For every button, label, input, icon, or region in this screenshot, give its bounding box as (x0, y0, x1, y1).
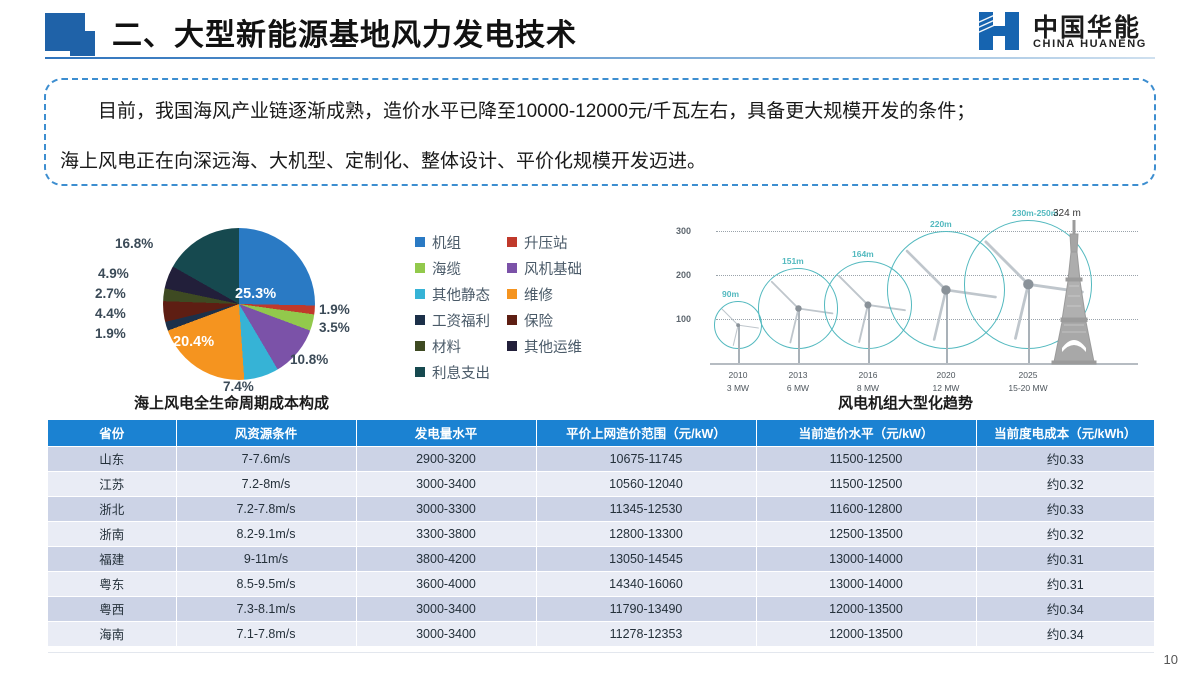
legend-label: 工资福利 (432, 310, 490, 331)
table-cell: 约0.32 (976, 471, 1154, 496)
legend-swatch-icon (507, 237, 517, 247)
table-row: 浙南8.2-9.1m/s3300-380012800-1330012500-13… (48, 521, 1154, 546)
pie-label-4-4: 4.4% (95, 306, 126, 321)
table-cell: 海南 (48, 621, 176, 646)
pie-chart-caption: 海上风电全生命周期成本构成 (134, 392, 329, 413)
pie-label-16-8: 16.8% (115, 236, 153, 251)
turbine-axis-label: 202515-20 MW (994, 370, 1062, 393)
pie-label-3-5: 3.5% (319, 320, 350, 335)
legend-swatch-icon (415, 341, 425, 351)
callout-line-1: 目前，我国海风产业链逐渐成熟，造价水平已降至10000-12000元/千瓦左右，… (46, 80, 1154, 130)
table-column-header: 平价上网造价范围（元/kW） (536, 420, 756, 446)
table-cell: 3000-3400 (356, 471, 536, 496)
trend-y-tick-label: 300 (676, 226, 691, 236)
summary-callout-box: 目前，我国海风产业链逐渐成熟，造价水平已降至10000-12000元/千瓦左右，… (44, 78, 1156, 186)
logo-text-en: CHINA HUANENG (1033, 38, 1147, 50)
legend-item: 海缆 (415, 255, 490, 281)
table-cell: 11790-13490 (536, 596, 756, 621)
table-cell: 约0.31 (976, 571, 1154, 596)
legend-label: 保险 (524, 310, 553, 331)
callout-line-2: 海上风电正在向深远海、大机型、定制化、整体设计、平价化规模开发迈进。 (46, 130, 1154, 180)
legend-item: 维修 (507, 281, 582, 307)
table-cell: 11600-12800 (756, 496, 976, 521)
legend-item: 机组 (415, 229, 490, 255)
legend-swatch-icon (415, 289, 425, 299)
table-cell: 12000-13500 (756, 596, 976, 621)
table-cell: 12800-13300 (536, 521, 756, 546)
turbine-year-label: 2010 (704, 370, 772, 380)
table-cell: 约0.33 (976, 446, 1154, 471)
table-cell: 3600-4000 (356, 571, 536, 596)
table-cell: 约0.33 (976, 496, 1154, 521)
legend-column-left: 机组海缆其他静态工资福利材料利息支出 (415, 229, 490, 385)
header-divider (45, 57, 1155, 59)
pie-label-25-3: 25.3% (235, 286, 276, 302)
table-cell: 约0.31 (976, 546, 1154, 571)
table-cell: 11500-12500 (756, 446, 976, 471)
turbine-height-label: 164m (852, 249, 874, 259)
table-cell: 3300-3800 (356, 521, 536, 546)
pie-label-2-7: 2.7% (95, 286, 126, 301)
table-row: 江苏7.2-8m/s3000-340010560-1204011500-1250… (48, 471, 1154, 496)
legend-label: 其他运维 (524, 336, 582, 357)
table-cell: 11278-12353 (536, 621, 756, 646)
table-cell: 3800-4200 (356, 546, 536, 571)
pie-label-1-9-b: 1.9% (95, 326, 126, 341)
table-cell: 浙南 (48, 521, 176, 546)
table-cell: 7.1-7.8m/s (176, 621, 356, 646)
table-column-header: 当前度电成本（元/kWh） (976, 420, 1154, 446)
table-cell: 7-7.6m/s (176, 446, 356, 471)
table-column-header: 省份 (48, 420, 176, 446)
page-number: 10 (1164, 652, 1178, 667)
trend-chart-caption: 风电机组大型化趋势 (838, 392, 973, 413)
table-cell: 13000-14000 (756, 571, 976, 596)
turbine-power-label: 15-20 MW (994, 383, 1062, 393)
table-cell: 9-11m/s (176, 546, 356, 571)
table-cell: 12500-13500 (756, 521, 976, 546)
legend-label: 利息支出 (432, 362, 490, 383)
table-cell: 7.2-8m/s (176, 471, 356, 496)
table-cell: 14340-16060 (536, 571, 756, 596)
legend-item: 其他运维 (507, 333, 582, 359)
table-cell: 11345-12530 (536, 496, 756, 521)
table-row: 浙北7.2-7.8m/s3000-330011345-1253011600-12… (48, 496, 1154, 521)
table-cell: 12000-13500 (756, 621, 976, 646)
table-cell: 约0.32 (976, 521, 1154, 546)
table-cell: 10560-12040 (536, 471, 756, 496)
turbine-upsizing-trend-chart: 300200100 90m151m164m220m230m-250m 20103… (668, 218, 1138, 390)
legend-label: 其他静态 (432, 284, 490, 305)
legend-label: 海缆 (432, 258, 461, 279)
legend-item: 利息支出 (415, 359, 490, 385)
table-cell: 2900-3200 (356, 446, 536, 471)
province-cost-table: 省份风资源条件发电量水平平价上网造价范围（元/kW）当前造价水平（元/kW）当前… (48, 420, 1154, 647)
legend-swatch-icon (507, 315, 517, 325)
eiffel-tower-height-label: 324 m (1053, 208, 1081, 219)
header-square-small-icon (70, 31, 95, 56)
turbine-height-label: 151m (782, 256, 804, 266)
trend-y-tick-label: 200 (676, 270, 691, 280)
table-cell: 8.5-9.5m/s (176, 571, 356, 596)
table-row: 福建9-11m/s3800-420013050-1454513000-14000… (48, 546, 1154, 571)
legend-swatch-icon (507, 263, 517, 273)
table-cell: 江苏 (48, 471, 176, 496)
legend-swatch-icon (415, 315, 425, 325)
table-cell: 13050-14545 (536, 546, 756, 571)
table-cell: 粤东 (48, 571, 176, 596)
legend-swatch-icon (507, 289, 517, 299)
table-column-header: 发电量水平 (356, 420, 536, 446)
page-title: 二、大型新能源基地风力发电技术 (112, 10, 577, 54)
table-row: 山东7-7.6m/s2900-320010675-1174511500-1250… (48, 446, 1154, 471)
table-header-row: 省份风资源条件发电量水平平价上网造价范围（元/kW）当前造价水平（元/kW）当前… (48, 420, 1154, 446)
table-cell: 约0.34 (976, 621, 1154, 646)
table-cell: 约0.34 (976, 596, 1154, 621)
legend-item: 材料 (415, 333, 490, 359)
trend-y-tick-label: 100 (676, 314, 691, 324)
legend-item: 升压站 (507, 229, 582, 255)
eiffel-tower-icon (1050, 220, 1098, 365)
table-cell: 7.2-7.8m/s (176, 496, 356, 521)
turbine-power-label: 3 MW (704, 383, 772, 393)
legend-item: 工资福利 (415, 307, 490, 333)
table-column-header: 当前造价水平（元/kW） (756, 420, 976, 446)
legend-item: 保险 (507, 307, 582, 333)
legend-column-right: 升压站风机基础维修保险其他运维 (507, 229, 582, 359)
legend-swatch-icon (507, 341, 517, 351)
huaneng-h-mark-icon (975, 10, 1023, 52)
turbine-year-label: 2025 (994, 370, 1062, 380)
turbine-year-label: 2016 (834, 370, 902, 380)
table-body: 山东7-7.6m/s2900-320010675-1174511500-1250… (48, 446, 1154, 646)
pie-label-20-4: 20.4% (173, 334, 214, 350)
table-cell: 10675-11745 (536, 446, 756, 471)
pie-label-1-9-a: 1.9% (319, 302, 350, 317)
turbine-axis-label: 20136 MW (764, 370, 832, 393)
turbine-height-label: 90m (722, 289, 739, 299)
table-cell: 粤西 (48, 596, 176, 621)
pie-label-4-9: 4.9% (98, 266, 129, 281)
turbine-axis-label: 202012 MW (912, 370, 980, 393)
legend-item: 风机基础 (507, 255, 582, 281)
table-cell: 11500-12500 (756, 471, 976, 496)
legend-swatch-icon (415, 237, 425, 247)
table-row: 海南7.1-7.8m/s3000-340011278-1235312000-13… (48, 621, 1154, 646)
turbine-height-label: 220m (930, 219, 952, 229)
table-cell: 浙北 (48, 496, 176, 521)
table-row: 粤东8.5-9.5m/s3600-400014340-1606013000-14… (48, 571, 1154, 596)
turbine-height-label: 230m-250m (1012, 208, 1058, 218)
company-logo: 中国华能 CHINA HUANENG (975, 8, 1170, 54)
turbine-axis-label: 20103 MW (704, 370, 772, 393)
legend-label: 机组 (432, 232, 461, 253)
table-cell: 3000-3300 (356, 496, 536, 521)
slide-root: 二、大型新能源基地风力发电技术 中国华能 CHINA HUANENG 目前，我国… (0, 0, 1200, 675)
table-cell: 8.2-9.1m/s (176, 521, 356, 546)
table-cell: 3000-3400 (356, 596, 536, 621)
turbine-blades-icon (714, 301, 762, 349)
table-row: 粤西7.3-8.1m/s3000-340011790-1349012000-13… (48, 596, 1154, 621)
legend-swatch-icon (415, 263, 425, 273)
cost-composition-pie-chart: 25.3% 1.9% 3.5% 10.8% 7.4% 20.4% 1.9% 4.… (95, 222, 365, 407)
table-cell: 7.3-8.1m/s (176, 596, 356, 621)
turbine-axis-label: 20168 MW (834, 370, 902, 393)
slide-header: 二、大型新能源基地风力发电技术 中国华能 CHINA HUANENG (0, 0, 1200, 62)
legend-label: 材料 (432, 336, 461, 357)
table-column-header: 风资源条件 (176, 420, 356, 446)
table-cell: 山东 (48, 446, 176, 471)
legend-label: 升压站 (524, 232, 568, 253)
pie-label-10-8: 10.8% (290, 352, 328, 367)
turbine-year-label: 2020 (912, 370, 980, 380)
legend-item: 其他静态 (415, 281, 490, 307)
table-cell: 13000-14000 (756, 546, 976, 571)
table-cell: 福建 (48, 546, 176, 571)
table-cell: 3000-3400 (356, 621, 536, 646)
legend-swatch-icon (415, 367, 425, 377)
turbine-power-label: 6 MW (764, 383, 832, 393)
legend-label: 维修 (524, 284, 553, 305)
legend-label: 风机基础 (524, 258, 582, 279)
turbine-year-label: 2013 (764, 370, 832, 380)
footer-divider (48, 652, 1154, 653)
